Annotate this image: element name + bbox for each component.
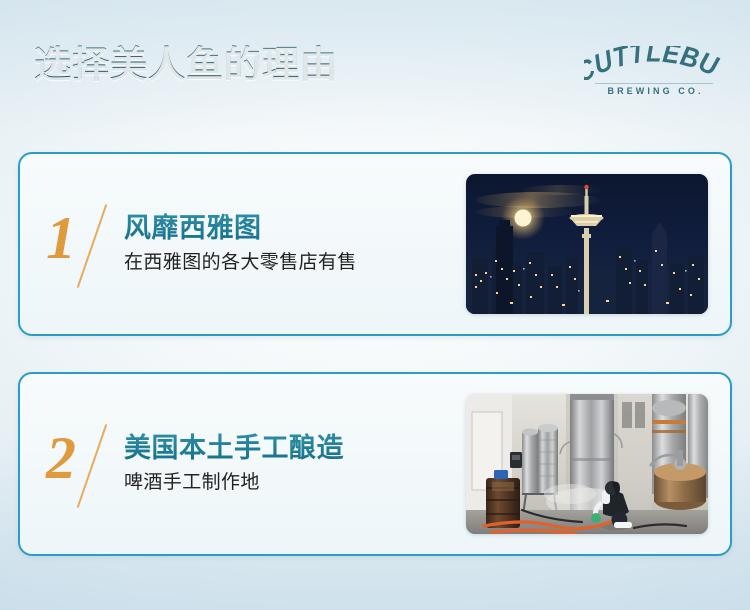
- reason-card-2-text: 美国本土手工酿造 啤酒手工制作地: [124, 432, 466, 495]
- reason-card-2-photo-alt: Brewery interior with stainless steel ta…: [466, 394, 467, 395]
- page-title: 选择美人鱼的理由: [34, 43, 338, 87]
- reason-number-2-digit: 2: [46, 428, 76, 488]
- reason-number-1-slash-icon: [77, 204, 108, 288]
- promo-page: 选择美人鱼的理由 SCUTTLEBUTT BREWING CO. 1 风靡西雅图: [0, 0, 750, 610]
- reason-card-1-subtitle: 在西雅图的各大零售店有售: [124, 251, 466, 276]
- logo-divider: [595, 83, 713, 84]
- reason-card-2-photo: Brewery interior with stainless steel ta…: [466, 394, 708, 534]
- reason-card-1-text: 风靡西雅图 在西雅图的各大零售店有售: [124, 212, 466, 275]
- reason-card-1-photo-alt: Seattle skyline at night with Space Need…: [466, 174, 467, 175]
- brand-logo: SCUTTLEBUTT BREWING CO.: [580, 46, 728, 102]
- reason-number-2: 2: [46, 416, 118, 512]
- reason-card-1-title: 风靡西雅图: [124, 212, 466, 244]
- reason-card-1-body: 1 风靡西雅图 在西雅图的各大零售店有售: [46, 154, 466, 334]
- reason-card-1[interactable]: 1 风靡西雅图 在西雅图的各大零售店有售 Seattle skyline at …: [18, 152, 732, 336]
- reason-number-1: 1: [46, 196, 118, 292]
- brand-wordmark-icon: SCUTTLEBUTT: [584, 46, 724, 80]
- reason-number-2-slash-icon: [77, 424, 108, 508]
- reason-card-2-title: 美国本土手工酿造: [124, 432, 466, 464]
- reason-card-2-body: 2 美国本土手工酿造 啤酒手工制作地: [46, 374, 466, 554]
- reason-number-1-digit: 1: [46, 208, 76, 268]
- page-header: 选择美人鱼的理由 SCUTTLEBUTT BREWING CO.: [0, 0, 750, 140]
- reason-card-2-subtitle: 啤酒手工制作地: [124, 471, 466, 496]
- reason-card-2[interactable]: 2 美国本土手工酿造 啤酒手工制作地 Brewery interior with…: [18, 372, 732, 556]
- reason-card-1-photo: Seattle skyline at night with Space Need…: [466, 174, 708, 314]
- brand-tagline: BREWING CO.: [604, 86, 703, 96]
- svg-text:SCUTTLEBUTT: SCUTTLEBUTT: [584, 46, 723, 80]
